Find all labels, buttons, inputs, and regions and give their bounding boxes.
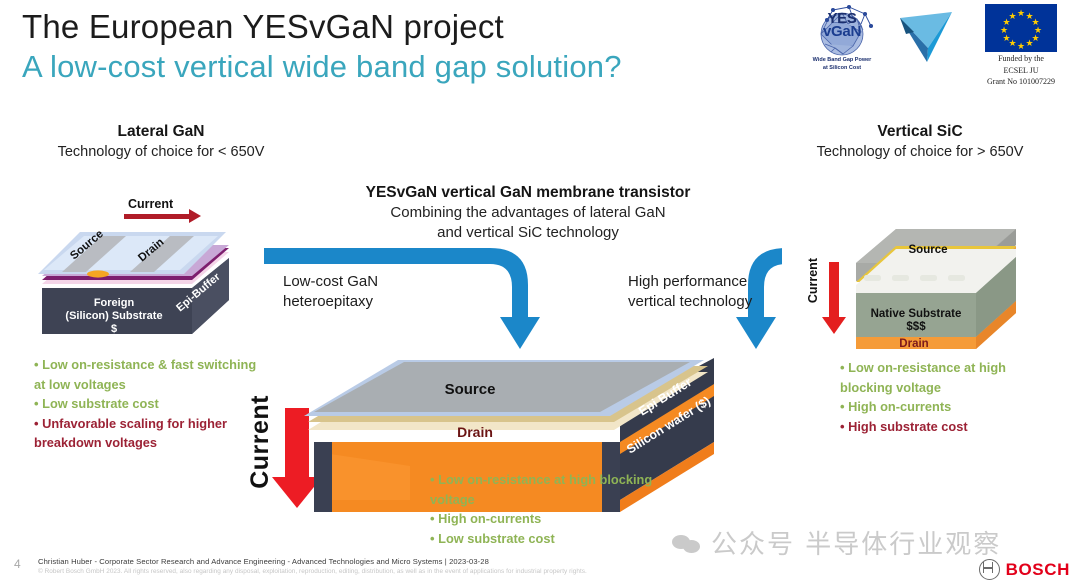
yesvgan-logo: YES vGaN Wide Band Gap Power at Silicon …: [798, 4, 886, 72]
list-item: • Low on-resistance at high blocking vol…: [840, 358, 1055, 397]
eu-caption-1: Funded by the: [968, 54, 1074, 64]
eu-funding-logo: ★ ★ ★ ★ ★ ★ ★ ★ ★ ★ ★ ★ Funded by the EC…: [968, 4, 1074, 87]
left-substrate-label-1: Foreign: [94, 297, 135, 309]
center-drain-label: Drain: [457, 424, 493, 440]
eu-flag-icon: ★ ★ ★ ★ ★ ★ ★ ★ ★ ★ ★ ★: [985, 4, 1057, 52]
slide-number: 4: [14, 557, 21, 571]
yesvgan-wordmark: YES vGaN: [803, 12, 881, 38]
left-heading: Lateral GaN: [16, 122, 306, 142]
yesvgan-caption-2: at Silicon Cost: [798, 65, 886, 72]
left-subheading: Technology of choice for < 650V: [16, 142, 306, 162]
arrow-right-label-1: High performance: [628, 272, 752, 292]
list-item: • Low on-resistance at high blocking vol…: [430, 470, 670, 509]
center-subheading-1: Combining the advantages of lateral GaN: [268, 203, 788, 223]
vertical-sic-device-diagram: Source Native Substrate $$$ Drain: [848, 225, 1033, 355]
title-line-1: The European YESvGaN project: [22, 8, 622, 46]
eu-caption-2: ECSEL JU: [968, 66, 1074, 76]
slide: The European YESvGaN project A low-cost …: [0, 0, 1080, 587]
title-line-2: A low-cost vertical wide band gap soluti…: [22, 48, 622, 86]
yesvgan-caption-1: Wide Band Gap Power: [798, 57, 886, 64]
list-item: • High on-currents: [430, 509, 670, 529]
list-item: • Low substrate cost: [34, 394, 264, 414]
list-item: • High on-currents: [840, 397, 1055, 417]
center-bullet-list: • Low on-resistance at high blocking vol…: [430, 470, 670, 548]
right-subheading: Technology of choice for > 650V: [775, 142, 1065, 162]
logo-group: YES vGaN Wide Band Gap Power at Silicon …: [798, 4, 1074, 87]
vgan-text: vGaN: [823, 23, 861, 40]
page-title: The European YESvGaN project A low-cost …: [22, 8, 622, 86]
slide-footer: 4 Christian Huber - Corporate Sector Res…: [0, 553, 1080, 587]
arrow-right-label-2: vertical technology: [628, 292, 752, 312]
list-item: • Unfavorable scaling for higher breakdo…: [34, 414, 264, 453]
center-heading-block: YESvGaN vertical GaN membrane transistor…: [268, 182, 788, 243]
right-source-label: Source: [909, 244, 948, 256]
arrow-right-label: High performance vertical technology: [628, 272, 752, 312]
footer-line-2: © Robert Bosch GmbH 2023. All rights res…: [38, 568, 587, 575]
left-current-label: Current: [128, 197, 173, 211]
list-item: • Low substrate cost: [430, 529, 670, 549]
left-substrate-label-2: (Silicon) Substrate: [65, 310, 162, 322]
bosch-anchor-icon: [979, 559, 1000, 580]
center-current-label: Current: [246, 395, 275, 489]
list-item: • Low on-resistance & fast switching at …: [34, 355, 264, 394]
yesvgan-globe-icon: YES vGaN: [803, 4, 881, 56]
left-substrate-label-3: $: [111, 323, 117, 335]
footer-line-1: Christian Huber - Corporate Sector Resea…: [38, 557, 489, 566]
right-bullet-list: • Low on-resistance at high blocking vol…: [840, 358, 1055, 436]
right-column-heading: Vertical SiC Technology of choice for > …: [775, 122, 1065, 162]
right-substrate-label-1: Native Substrate: [871, 308, 962, 320]
arrow-left-label-2: heteroepitaxy: [283, 292, 378, 312]
bosch-logo: BOSCH: [979, 559, 1070, 580]
right-current-label: Current: [806, 258, 820, 303]
eu-caption-3: Grant No 101007229: [968, 77, 1074, 87]
list-item: • High substrate cost: [840, 417, 1055, 437]
center-heading: YESvGaN vertical GaN membrane transistor: [268, 182, 788, 203]
arrow-left-label: Low-cost GaN heteroepitaxy: [283, 272, 378, 312]
right-drain-label: Drain: [899, 338, 928, 350]
bosch-wordmark: BOSCH: [1006, 560, 1070, 580]
lateral-gan-device-diagram: Source Drain Epi-Buffer Foreign (Silicon…: [34, 216, 249, 341]
center-source-label: Source: [445, 381, 496, 398]
center-subheading-2: and vertical SiC technology: [268, 223, 788, 243]
left-bullet-list: • Low on-resistance & fast switching at …: [34, 355, 264, 453]
right-substrate-label-2: $$$: [906, 321, 926, 333]
left-column-heading: Lateral GaN Technology of choice for < 6…: [16, 122, 306, 162]
arrow-left-label-1: Low-cost GaN: [283, 272, 378, 292]
v-checkmark-logo-icon: [896, 8, 958, 66]
right-heading: Vertical SiC: [775, 122, 1065, 142]
right-current-arrow-icon: [829, 262, 839, 318]
